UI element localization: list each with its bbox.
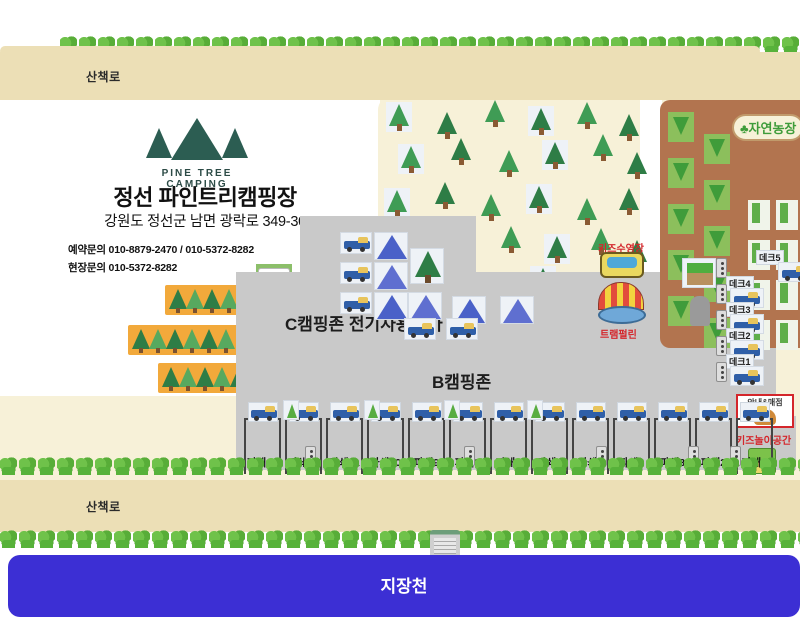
hedge-bush-icon <box>589 530 606 548</box>
hedge-bush-icon <box>760 530 777 548</box>
hedge-bush-icon <box>266 457 283 475</box>
hedge-bush-icon <box>437 457 454 475</box>
hedge-bush-icon <box>342 457 359 475</box>
hedge-bush-icon <box>684 457 701 475</box>
hedge-bush-icon <box>38 457 55 475</box>
stream-bar: 지장천 <box>8 555 800 617</box>
hedge-bush-icon <box>266 530 283 548</box>
hedge-bush-icon <box>646 457 663 475</box>
hedge-bush-icon <box>551 530 568 548</box>
site-truck-icon <box>248 402 278 422</box>
trail-bottom-label: 산책로 <box>86 498 121 515</box>
site-bush-icon <box>527 400 543 420</box>
hedge-bush-icon <box>152 530 169 548</box>
hedge-row-bottom <box>0 455 800 475</box>
hedge-bush-icon <box>589 457 606 475</box>
hedge-bush-icon <box>627 457 644 475</box>
river-stairs-icon <box>430 530 460 556</box>
hedge-bush-icon <box>0 457 17 475</box>
hedge-bush-icon <box>171 457 188 475</box>
hedge-bush-icon <box>133 530 150 548</box>
hedge-bush-icon <box>361 530 378 548</box>
hedge-bush-icon <box>760 457 777 475</box>
site-truck-icon <box>576 402 606 422</box>
hedge-bush-icon <box>38 530 55 548</box>
site-bush-icon <box>444 400 460 420</box>
hedge-bush-icon <box>741 457 758 475</box>
hedge-bush-icon <box>285 530 302 548</box>
hedge-bush-icon <box>722 530 739 548</box>
hedge-bush-icon <box>380 530 397 548</box>
hedge-bush-icon <box>494 530 511 548</box>
hedge-bush-icon <box>76 530 93 548</box>
hedge-bush-icon <box>323 530 340 548</box>
hedge-bush-icon <box>114 530 131 548</box>
hedge-bush-icon <box>513 457 530 475</box>
hedge-bush-icon <box>228 457 245 475</box>
hedge-bush-icon <box>0 530 17 548</box>
hedge-row-river <box>0 528 800 548</box>
hedge-bush-icon <box>247 530 264 548</box>
hedge-bush-icon <box>247 457 264 475</box>
hedge-bush-icon <box>570 457 587 475</box>
hedge-bush-icon <box>551 457 568 475</box>
hedge-bush-icon <box>513 530 530 548</box>
hedge-bush-icon <box>399 457 416 475</box>
hedge-bush-icon <box>304 530 321 548</box>
site-truck-icon <box>494 402 524 422</box>
hedge-bush-icon <box>703 530 720 548</box>
hedge-bush-icon <box>779 530 796 548</box>
site-truck-icon <box>740 402 770 422</box>
hedge-bush-icon <box>684 530 701 548</box>
hedge-bush-icon <box>190 530 207 548</box>
stream-label: 지장천 <box>8 572 800 597</box>
hedge-bush-icon <box>57 457 74 475</box>
site-bush-icon <box>283 400 299 420</box>
hedge-bush-icon <box>361 457 378 475</box>
hedge-bush-icon <box>779 457 796 475</box>
site-truck-icon <box>699 402 729 422</box>
site-truck-icon <box>330 402 360 422</box>
hedge-bush-icon <box>399 530 416 548</box>
hedge-bush-icon <box>627 530 644 548</box>
site-truck-icon <box>412 402 442 422</box>
hedge-bush-icon <box>665 457 682 475</box>
hedge-bush-icon <box>133 457 150 475</box>
hedge-bush-icon <box>665 530 682 548</box>
hedge-bush-icon <box>95 457 112 475</box>
hedge-bush-icon <box>570 530 587 548</box>
hedge-bush-icon <box>323 457 340 475</box>
hedge-bush-icon <box>380 457 397 475</box>
hedge-bush-icon <box>494 457 511 475</box>
site-truck-icon <box>658 402 688 422</box>
hedge-bush-icon <box>171 530 188 548</box>
hedge-bush-icon <box>95 530 112 548</box>
hedge-bush-icon <box>608 530 625 548</box>
hedge-bush-icon <box>57 530 74 548</box>
hedge-bush-icon <box>532 530 549 548</box>
hedge-bush-icon <box>190 457 207 475</box>
hedge-bush-icon <box>475 530 492 548</box>
site-bush-icon <box>364 400 380 420</box>
hedge-bush-icon <box>209 457 226 475</box>
hedge-bush-icon <box>741 530 758 548</box>
hedge-bush-icon <box>646 530 663 548</box>
hedge-bush-icon <box>209 530 226 548</box>
hedge-bush-icon <box>285 457 302 475</box>
hedge-bush-icon <box>475 457 492 475</box>
hedge-bush-icon <box>228 530 245 548</box>
hedge-bush-icon <box>703 457 720 475</box>
hedge-bush-icon <box>304 457 321 475</box>
hedge-bush-icon <box>418 457 435 475</box>
hedge-bush-icon <box>19 530 36 548</box>
hedge-bush-icon <box>456 457 473 475</box>
campsite-map: 산책로 PINE TREE CAMPING 정선 파인트리캠핑장 강원도 정선군… <box>0 0 800 624</box>
hedge-bush-icon <box>608 457 625 475</box>
hedge-bush-icon <box>532 457 549 475</box>
site-truck-icon <box>617 402 647 422</box>
hedge-bush-icon <box>722 457 739 475</box>
hedge-bush-icon <box>76 457 93 475</box>
hedge-bush-icon <box>342 530 359 548</box>
hedge-bush-icon <box>152 457 169 475</box>
hedge-bush-icon <box>19 457 36 475</box>
hedge-bush-icon <box>114 457 131 475</box>
